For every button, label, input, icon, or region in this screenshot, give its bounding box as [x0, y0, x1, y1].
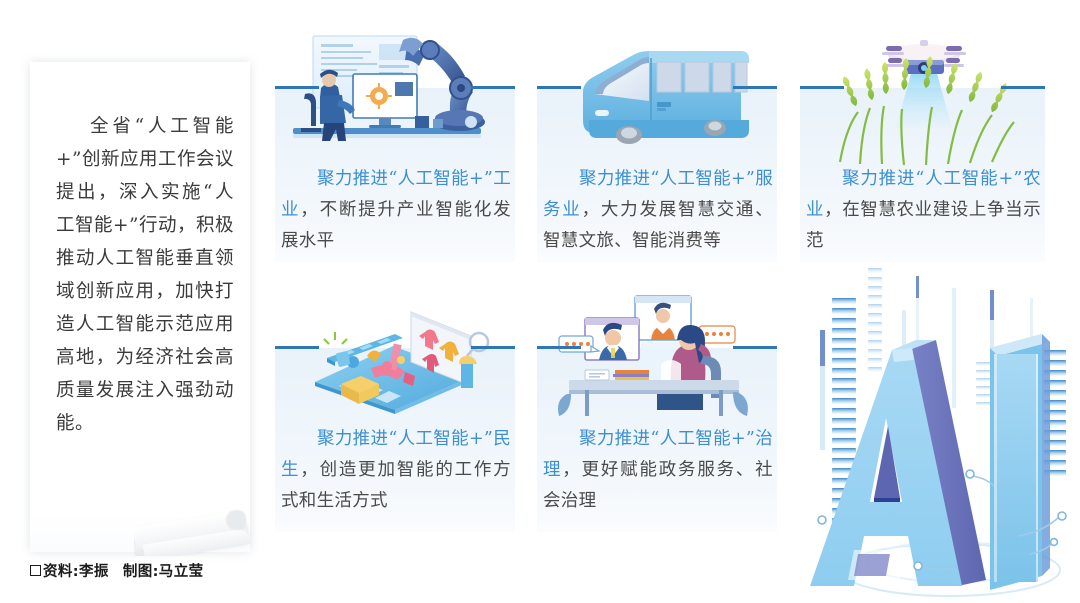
smart-living-isometric-icon — [275, 282, 515, 432]
bus-icon — [537, 22, 777, 172]
video-conference-desk-icon — [537, 282, 777, 432]
credit-line: 资料:李振制图:马立莹 — [30, 560, 204, 581]
card-industry[interactable]: 聚力推进“人工智能+”工业，不断提升产业智能化发展水平 — [275, 22, 515, 262]
credit-source: 资料:李振 — [43, 564, 109, 580]
robot-arm-workstation-icon — [275, 22, 515, 172]
drone-wheat-icon — [800, 22, 1045, 172]
card-body: ，更好赋能政务服务、社会治理 — [543, 460, 773, 511]
card-caption: 聚力推进“人工智能+”民生，创造更加智能的工作方式和生活方式 — [281, 424, 511, 517]
card-agriculture[interactable]: 聚力推进“人工智能+”农业，在智慧农业建设上争当示范 — [800, 22, 1045, 262]
card-accent-rule — [800, 86, 1045, 89]
card-caption: 聚力推进“人工智能+”服务业，大力发展智慧交通、智慧文旅、智能消费等 — [543, 164, 773, 257]
ai-3d-letters-icon — [800, 250, 1080, 603]
card-livelihood[interactable]: 聚力推进“人工智能+”民生，创造更加智能的工作方式和生活方式 — [275, 282, 515, 532]
poster-canvas: 全省“人工智能+”创新应用工作会议提出，深入实施“人工智能+”行动，积极推动人工… — [0, 0, 1080, 603]
card-accent-rule — [537, 346, 777, 349]
card-caption: 聚力推进“人工智能+”农业，在智慧农业建设上争当示范 — [806, 164, 1041, 257]
card-body: ，创造更加智能的工作方式和生活方式 — [281, 460, 511, 511]
card-accent-rule — [275, 86, 515, 89]
note-paragraph: 全省“人工智能+”创新应用工作会议提出，深入实施“人工智能+”行动，积极推动人工… — [56, 110, 234, 440]
bullet-square-icon — [30, 565, 41, 576]
card-caption: 聚力推进“人工智能+”工业，不断提升产业智能化发展水平 — [281, 164, 511, 257]
card-accent-rule — [275, 346, 515, 349]
card-services[interactable]: 聚力推进“人工智能+”服务业，大力发展智慧交通、智慧文旅、智能消费等 — [537, 22, 777, 262]
card-governance[interactable]: 聚力推进“人工智能+”治理，更好赋能政务服务、社会治理 — [537, 282, 777, 532]
card-body: ，在智慧农业建设上争当示范 — [806, 200, 1041, 251]
card-body: ，不断提升产业智能化发展水平 — [281, 200, 511, 251]
card-caption: 聚力推进“人工智能+”治理，更好赋能政务服务、社会治理 — [543, 424, 773, 517]
credit-designer: 制图:马立莹 — [123, 564, 204, 580]
card-accent-rule — [537, 86, 777, 89]
summary-note-card: 全省“人工智能+”创新应用工作会议提出，深入实施“人工智能+”行动，积极推动人工… — [30, 62, 250, 552]
